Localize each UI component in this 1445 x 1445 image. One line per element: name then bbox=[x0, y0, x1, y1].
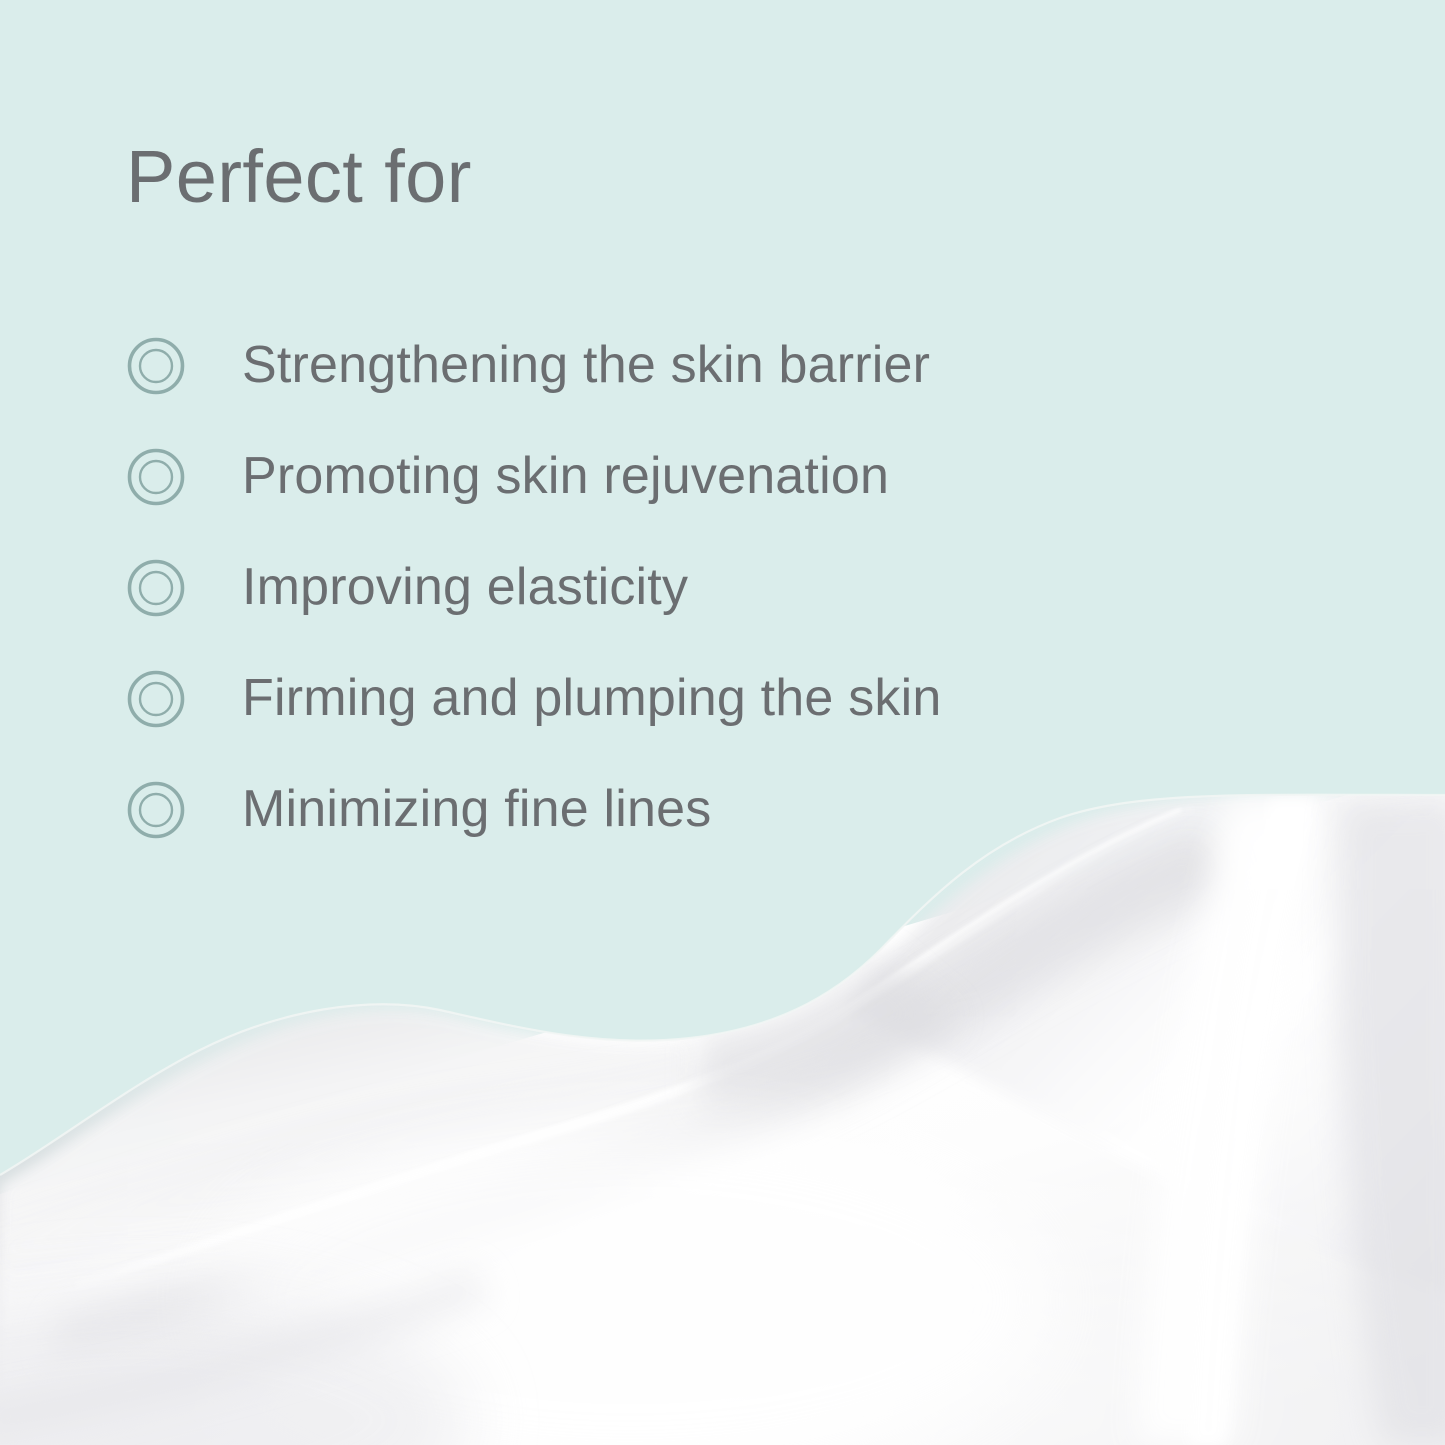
list-item-label: Firming and plumping the skin bbox=[242, 670, 941, 727]
list-item: Firming and plumping the skin bbox=[126, 643, 1276, 754]
double-circle-icon bbox=[126, 669, 186, 729]
list-item: Minimizing fine lines bbox=[126, 754, 1276, 865]
double-circle-icon bbox=[126, 336, 186, 396]
double-circle-icon bbox=[126, 447, 186, 507]
benefit-list: Strengthening the skin barrier Promoting… bbox=[126, 310, 1276, 865]
list-item: Improving elasticity bbox=[126, 532, 1276, 643]
list-item-label: Minimizing fine lines bbox=[242, 781, 711, 838]
list-item: Promoting skin rejuvenation bbox=[126, 421, 1276, 532]
double-circle-icon bbox=[126, 780, 186, 840]
double-circle-icon bbox=[126, 558, 186, 618]
list-item-label: Strengthening the skin barrier bbox=[242, 337, 930, 394]
list-item-label: Promoting skin rejuvenation bbox=[242, 448, 889, 505]
page-title: Perfect for bbox=[126, 140, 1276, 214]
list-item: Strengthening the skin barrier bbox=[126, 310, 1276, 421]
list-item-label: Improving elasticity bbox=[242, 559, 688, 616]
product-benefits-graphic: Perfect for Strengthening the skin barri… bbox=[0, 0, 1445, 1445]
content-block: Perfect for Strengthening the skin barri… bbox=[126, 140, 1276, 865]
